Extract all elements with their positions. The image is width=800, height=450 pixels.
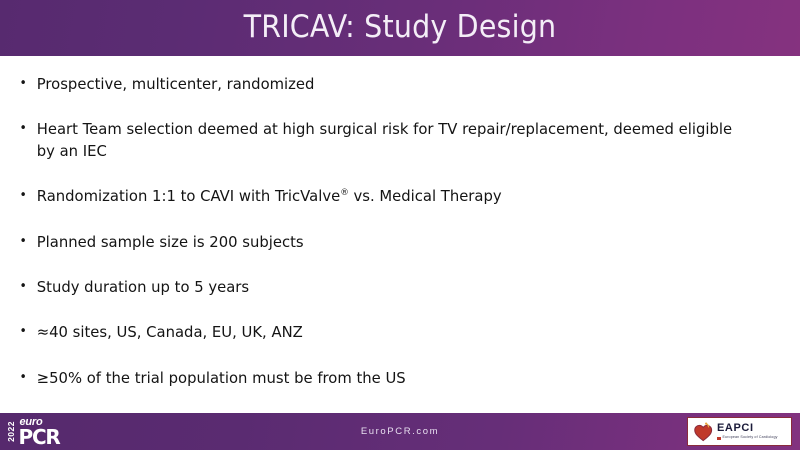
list-item-label: ≥50% of the trial population must be fro… (37, 368, 748, 389)
eapci-name-label: EAPCI (717, 423, 778, 434)
list-item: • ≈40 sites, US, Canada, EU, UK, ANZ (10, 322, 747, 343)
bullet-marker-icon: • (20, 186, 27, 206)
eapci-square-icon (717, 437, 721, 441)
europcr-logo-pcr: PCR (19, 429, 60, 446)
list-item-label: Heart Team selection deemed at high surg… (37, 119, 748, 162)
eapci-subtitle-label: European Society of Cardiology (717, 436, 778, 440)
bullet-marker-icon: • (20, 119, 27, 139)
slide-body: • Prospective, multicenter, randomized •… (0, 56, 800, 413)
registered-trademark-icon: ® (340, 188, 349, 198)
list-item: • Randomization 1:1 to CAVI with TricVal… (10, 186, 747, 207)
list-item-text-after: vs. Medical Therapy (349, 187, 502, 205)
slide-footer: 2022 euro PCR EuroPCR.com EAPCI European… (0, 413, 800, 450)
eapci-texts: EAPCI European Society of Cardiology (717, 423, 778, 440)
slide: TRICAV: Study Design • Prospective, mult… (0, 0, 800, 450)
bullet-list: • Prospective, multicenter, randomized •… (10, 74, 782, 389)
footer-url-label: EuroPCR.com (0, 426, 800, 437)
list-item-label: Randomization 1:1 to CAVI with TricValve… (37, 186, 748, 207)
list-item-label: Prospective, multicenter, randomized (37, 74, 748, 95)
page-title: TRICAV: Study Design (244, 12, 557, 43)
bullet-marker-icon: • (20, 277, 27, 297)
bullet-marker-icon: • (20, 74, 27, 94)
eapci-logo: EAPCI European Society of Cardiology (687, 417, 792, 446)
heart-icon (692, 421, 714, 443)
list-item-text-before: Randomization 1:1 to CAVI with TricValve (37, 187, 340, 205)
list-item-label: Planned sample size is 200 subjects (37, 232, 748, 253)
europcr-wordmark: euro PCR (19, 417, 60, 446)
list-item-label: ≈40 sites, US, Canada, EU, UK, ANZ (37, 322, 748, 343)
eapci-subtitle-text: European Society of Cardiology (723, 436, 778, 440)
bullet-marker-icon: • (20, 322, 27, 342)
list-item-label: Study duration up to 5 years (37, 277, 748, 298)
europcr-logo-year: 2022 (7, 421, 16, 442)
list-item: • ≥50% of the trial population must be f… (10, 368, 747, 389)
list-item: • Study duration up to 5 years (10, 277, 747, 298)
list-item: • Heart Team selection deemed at high su… (10, 119, 747, 162)
list-item: • Prospective, multicenter, randomized (10, 74, 747, 95)
list-item: • Planned sample size is 200 subjects (10, 232, 747, 253)
bullet-marker-icon: • (20, 232, 27, 252)
slide-title-bar: TRICAV: Study Design (0, 0, 800, 56)
bullet-marker-icon: • (20, 368, 27, 388)
europcr-logo: 2022 euro PCR (0, 413, 60, 450)
